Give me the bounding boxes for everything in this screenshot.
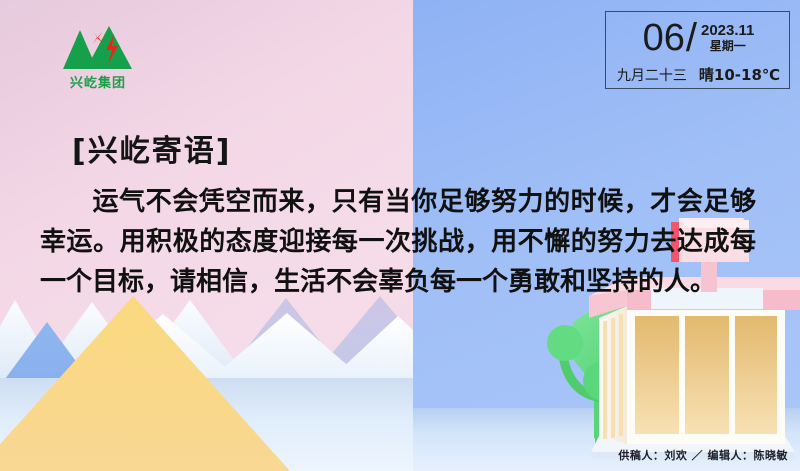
page-title: [兴屹寄语] bbox=[72, 126, 231, 170]
company-logo[interactable]: 兴屹集团 bbox=[58, 24, 138, 92]
date-lunar: 九月二十三 bbox=[617, 65, 687, 85]
date-card-secondary-row: 九月二十三 晴10-18℃ bbox=[606, 64, 791, 85]
shop-window-3 bbox=[735, 316, 777, 434]
paragraph-text: 运气不会凭空而来，只有当你足够努力的时候，才会足够幸运。用积极的态度迎接每一次挑… bbox=[40, 187, 756, 297]
shop-window-2 bbox=[685, 316, 729, 434]
date-separator: / bbox=[686, 18, 697, 58]
shop-window-1 bbox=[635, 316, 679, 434]
logo-wordmark: 兴屹集团 bbox=[58, 72, 138, 91]
poster-canvas: 兴屹集团 06 / 2023.11 星期一 九月二十三 晴10-18℃ [兴屹寄… bbox=[0, 0, 800, 471]
mountain-logo-icon bbox=[58, 24, 138, 74]
date-year-month: 2023.11 bbox=[701, 22, 754, 39]
body-paragraph: 运气不会凭空而来，只有当你足够努力的时候，才会足够幸运。用积极的态度迎接每一次挑… bbox=[40, 182, 756, 302]
footer-credits: 供稿人：刘欢 ／ 编辑人：陈晓敏 bbox=[618, 447, 788, 463]
date-card: 06 / 2023.11 星期一 九月二十三 晴10-18℃ bbox=[605, 11, 790, 89]
date-card-primary-row: 06 / 2023.11 星期一 bbox=[606, 14, 791, 62]
date-weekday: 星期一 bbox=[710, 39, 746, 55]
date-day: 06 bbox=[643, 19, 685, 57]
date-weather: 晴10-18℃ bbox=[699, 64, 780, 85]
date-year-month-group: 2023.11 星期一 bbox=[701, 22, 754, 55]
